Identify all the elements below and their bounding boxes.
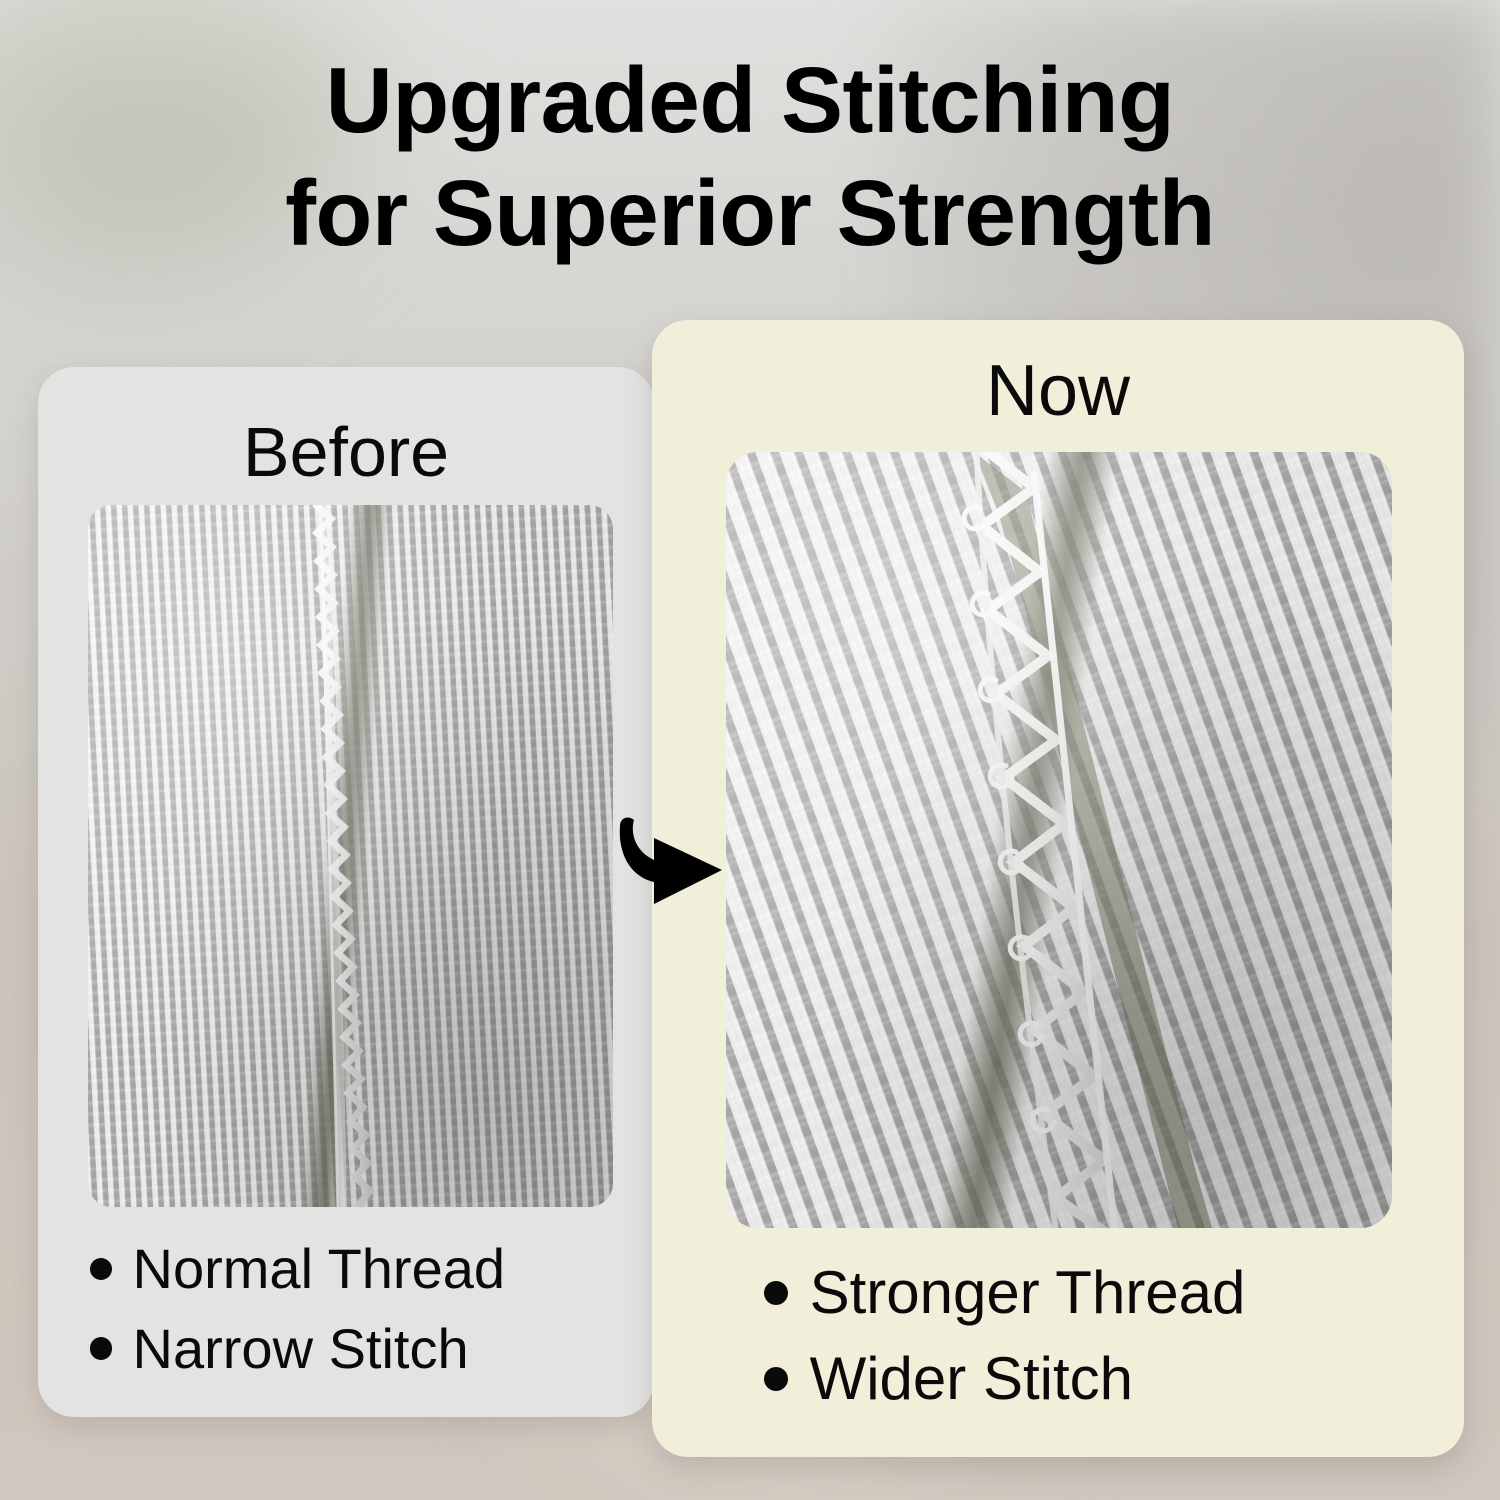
list-item: Narrow Stitch [90, 1309, 610, 1389]
infographic-canvas: Upgraded Stitching for Superior Strength… [0, 0, 1500, 1500]
before-bullet-text-2: Narrow Stitch [133, 1309, 469, 1389]
now-stitch-photo [726, 452, 1392, 1228]
before-card: Before [38, 367, 654, 1417]
before-card-label: Before [38, 412, 654, 492]
now-card-label: Now [652, 350, 1464, 432]
list-item: Stronger Thread [764, 1250, 1404, 1336]
before-photo-shading [88, 505, 613, 1207]
page-title-line-1: Upgraded Stitching [0, 44, 1500, 157]
before-bullet-list: Normal Thread Narrow Stitch [90, 1229, 610, 1388]
bullet-dot-icon [764, 1367, 788, 1391]
bullet-dot-icon [764, 1281, 788, 1305]
before-to-now-arrow [612, 808, 728, 918]
page-title: Upgraded Stitching for Superior Strength [0, 44, 1500, 271]
now-bullet-text-2: Wider Stitch [810, 1336, 1133, 1422]
now-photo-shading [726, 452, 1392, 1228]
curved-right-arrow-icon [612, 808, 728, 918]
page-title-line-2: for Superior Strength [0, 157, 1500, 270]
now-bullet-text-1: Stronger Thread [810, 1250, 1246, 1336]
now-bullet-list: Stronger Thread Wider Stitch [764, 1250, 1404, 1423]
now-card: Now [652, 320, 1464, 1457]
list-item: Wider Stitch [764, 1336, 1404, 1422]
bullet-dot-icon [90, 1258, 112, 1280]
before-stitch-photo [88, 505, 613, 1207]
before-bullet-text-1: Normal Thread [133, 1229, 505, 1309]
list-item: Normal Thread [90, 1229, 610, 1309]
bullet-dot-icon [90, 1337, 112, 1359]
